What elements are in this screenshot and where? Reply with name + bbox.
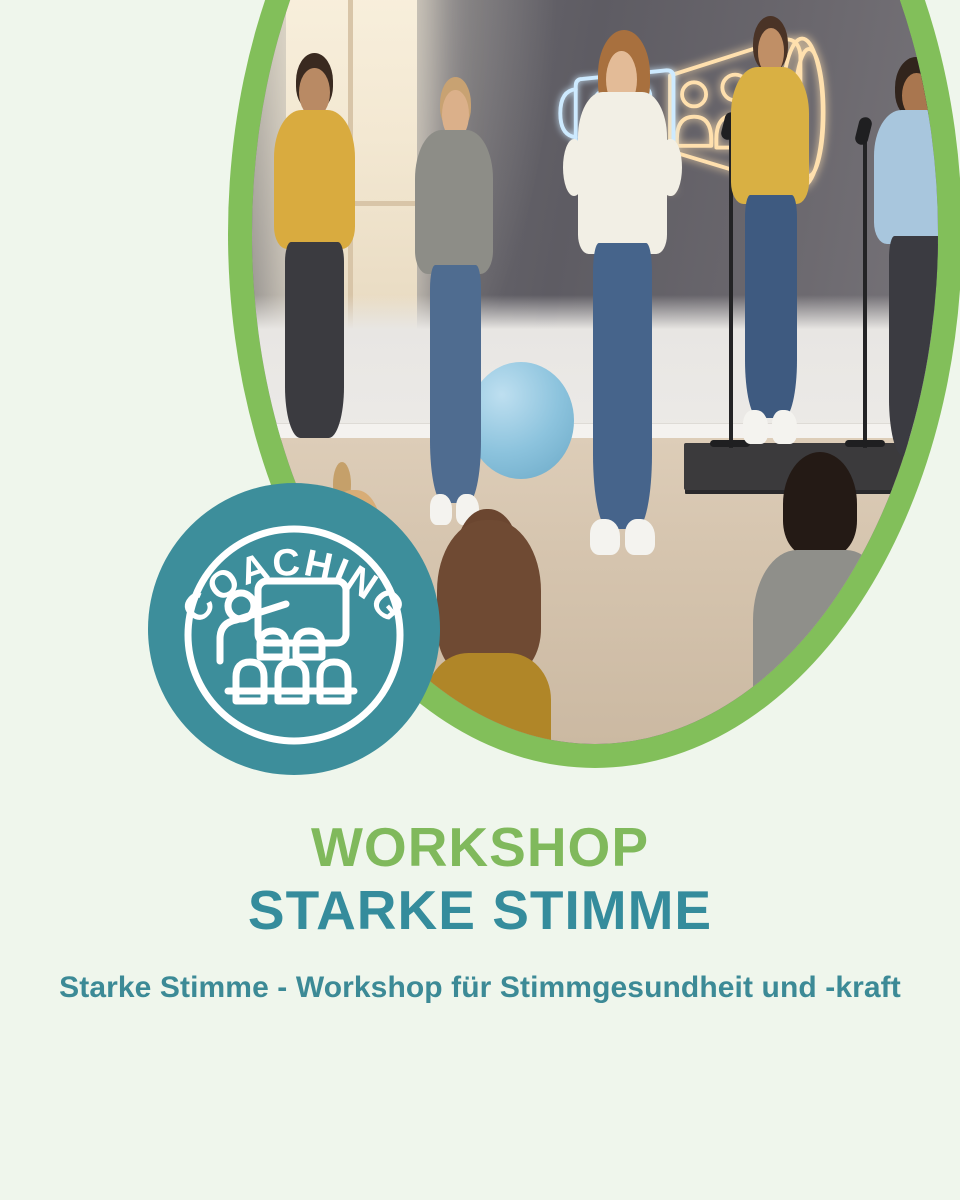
badge-curved-text: COACHING (174, 542, 414, 632)
seated-participant-curly (753, 458, 890, 744)
mic-stand-left (729, 127, 733, 448)
text-block: WORKSHOP STARKE STIMME Starke Stimme - W… (0, 818, 960, 1005)
stage-platform (684, 443, 931, 490)
mic-head-right (854, 116, 873, 146)
seated-participant-brunette (424, 509, 554, 744)
headline-line-1: WORKSHOP (0, 818, 960, 877)
baseboard (252, 423, 938, 440)
presenter-center (561, 35, 684, 555)
participant-yellow-shirt-left (259, 61, 369, 438)
subtitle: Starke Stimme - Workshop für Stimmgesund… (0, 971, 960, 1005)
headline-line-2: STARKE STIMME (0, 881, 960, 940)
window (286, 0, 416, 346)
exercise-ball (468, 362, 574, 479)
participant-blue-shirt-right (863, 61, 938, 469)
badge-curved-text-path: COACHING (174, 542, 414, 632)
window-sill (279, 336, 423, 344)
participant-mustard-sweater (718, 20, 821, 448)
mic-head-left (719, 110, 738, 140)
participant-grey-shirt (403, 81, 506, 530)
megaphone-neon-sign (526, 0, 869, 239)
mic-base-right (845, 440, 885, 447)
wall-lower (252, 295, 938, 438)
wall-light-glow (252, 0, 568, 520)
mic-base-left (710, 440, 750, 447)
mic-stand-right (863, 132, 867, 448)
coaching-badge: COACHING (148, 483, 440, 775)
poster-root: COACHING WORKSHOP STARKE STIMME Starke S… (0, 0, 960, 1200)
